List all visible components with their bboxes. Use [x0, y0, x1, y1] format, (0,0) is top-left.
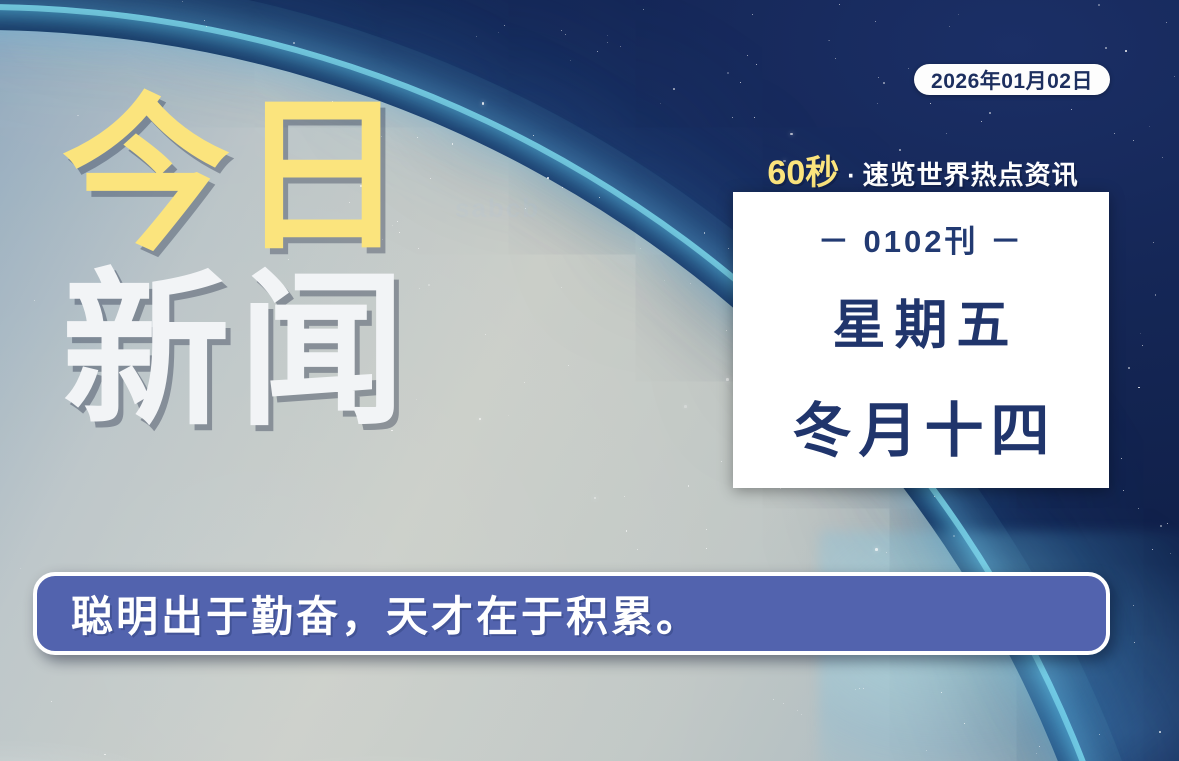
- tagline-separator: ·: [847, 162, 855, 191]
- tagline: 60秒 · 速览世界热点资讯: [736, 145, 1110, 194]
- weekday-label: 星期五: [824, 283, 1019, 359]
- lunar-date-label: 冬月十四: [785, 383, 1056, 468]
- watermark-text: sabcb: [455, 193, 540, 224]
- date-badge-label: 2026年01月02日: [931, 65, 1093, 95]
- tagline-highlight: 60秒: [767, 145, 839, 194]
- quote-bar: 聪明出于勤奋，天才在于积累。: [33, 572, 1110, 655]
- date-badge: 2026年01月02日: [914, 64, 1110, 95]
- headline-line-2: 新闻: [62, 271, 414, 432]
- issue-number: － 0102刊 －: [818, 216, 1024, 261]
- tagline-rest: 速览世界热点资讯: [863, 155, 1079, 192]
- info-card: － 0102刊 － 星期五 冬月十四: [733, 192, 1109, 488]
- quote-text: 聪明出于勤奋，天才在于积累。: [71, 583, 701, 644]
- headline-line-1: 今日: [62, 96, 414, 257]
- news-poster: sabcb 今日 新闻 2026年01月02日 60秒 · 速览世界热点资讯 －…: [0, 0, 1179, 761]
- page-title: 今日 新闻: [62, 96, 414, 433]
